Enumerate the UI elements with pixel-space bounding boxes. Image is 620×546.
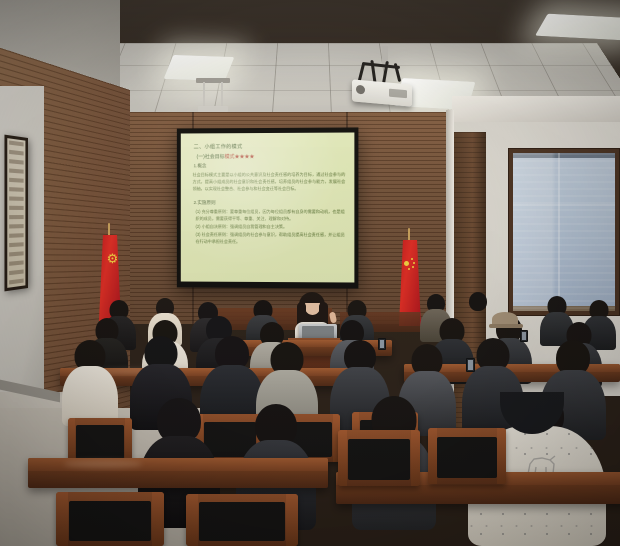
slide-bullet-3: (3) 社会责任原则：强调组员的社会参与意识，帮助组员提高社会责任感，并让组员在… [196,231,346,245]
slide-heading-2-prefix: (一)社会目标 [197,154,225,160]
screen-drop-bracket [196,78,230,112]
window [508,148,620,316]
window-roller-blind[interactable] [513,153,615,311]
blind-fold-horizontal [513,204,615,206]
projection-screen: 二、小组工作的模式 (一)社会目标模式★★★★ 1.概念 社会目标模式主要是以小… [177,127,359,288]
audience-person [62,340,118,426]
slide-bullet-1: (1) 充分尊重原则：要尊重每位组员，因为每位组员都有自身的需要和动机，也是组织… [196,208,346,222]
classroom-chair[interactable] [186,494,298,546]
slide-section-1: 1.概念 [194,163,346,169]
classroom-chair[interactable] [338,430,420,486]
slide-heading-1: 二、小组工作的模式 [194,143,346,151]
right-wall-soffit [452,96,620,122]
slide-body-1: 社会目标模式主要是以小组的公共意识及社会责任感的培养为目标，通过社会参与的方式，… [193,171,346,192]
projector-lens [356,85,365,95]
slide-bullet-2: (2) 小组自决原则：强调组员自我管理和自主决策。 [196,223,346,230]
front-row-desk [28,458,328,488]
classroom-chair[interactable] [56,492,164,546]
blind-fold-vertical [558,153,560,311]
slide-heading-2-accent: 模式★★★★ [225,154,255,160]
flag-pole [408,228,410,242]
slide-heading-2: (一)社会目标模式★★★★ [197,153,346,161]
person-torso [62,366,118,426]
slide-section-2: 2.实施原则 [194,200,346,206]
blind-rail [513,153,615,158]
projector-vent [389,89,407,99]
hammer-and-sickle-icon: ⚙ [106,251,119,267]
flag-pole [108,223,110,237]
framed-calligraphy-scroll [4,135,28,292]
khaki-cap-icon [492,312,518,326]
presenter-fringe [304,296,321,303]
ceiling-light-panel [535,14,620,41]
scroll-paper [7,138,25,288]
classroom-photo: 二、小组工作的模式 (一)社会目标模式★★★★ 1.概念 社会目标模式主要是以小… [0,0,620,546]
classroom-chair[interactable] [428,428,506,484]
five-stars-icon [404,258,418,272]
smartphone[interactable] [466,358,475,372]
presentation-slide: 二、小组工作的模式 (一)社会目标模式★★★★ 1.概念 社会目标模式主要是以小… [181,132,355,282]
